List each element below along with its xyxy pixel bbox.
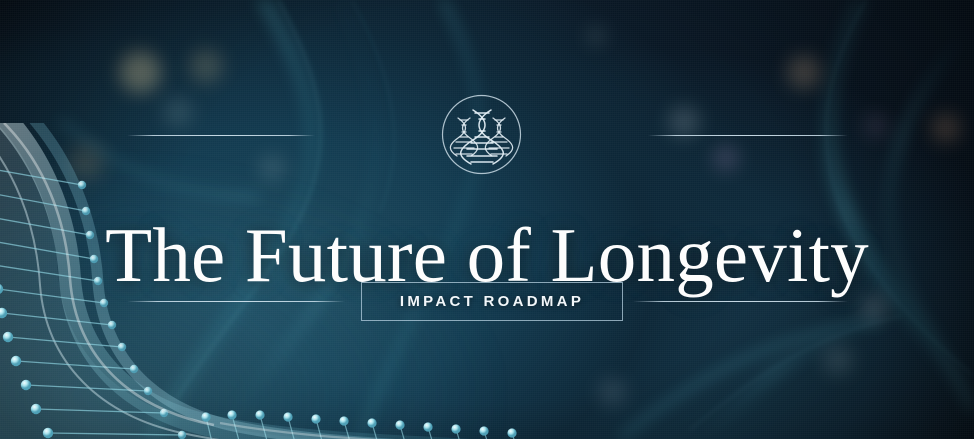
- status-badge: IMPACT ROADMAP: [361, 282, 623, 321]
- longevity-hero-banner: The Future of Longevity IMPACT ROADMAP: [0, 0, 974, 439]
- divider-top-left: [127, 135, 315, 136]
- dna-helix-emblem-icon: [441, 94, 522, 175]
- divider-mid-right: [633, 301, 848, 302]
- subtitle-row: IMPACT ROADMAP: [0, 282, 974, 321]
- divider-mid-left: [127, 301, 345, 302]
- hero-content: The Future of Longevity IMPACT ROADMAP: [0, 0, 974, 439]
- divider-top-right: [648, 135, 848, 136]
- badge-label: IMPACT ROADMAP: [400, 293, 584, 310]
